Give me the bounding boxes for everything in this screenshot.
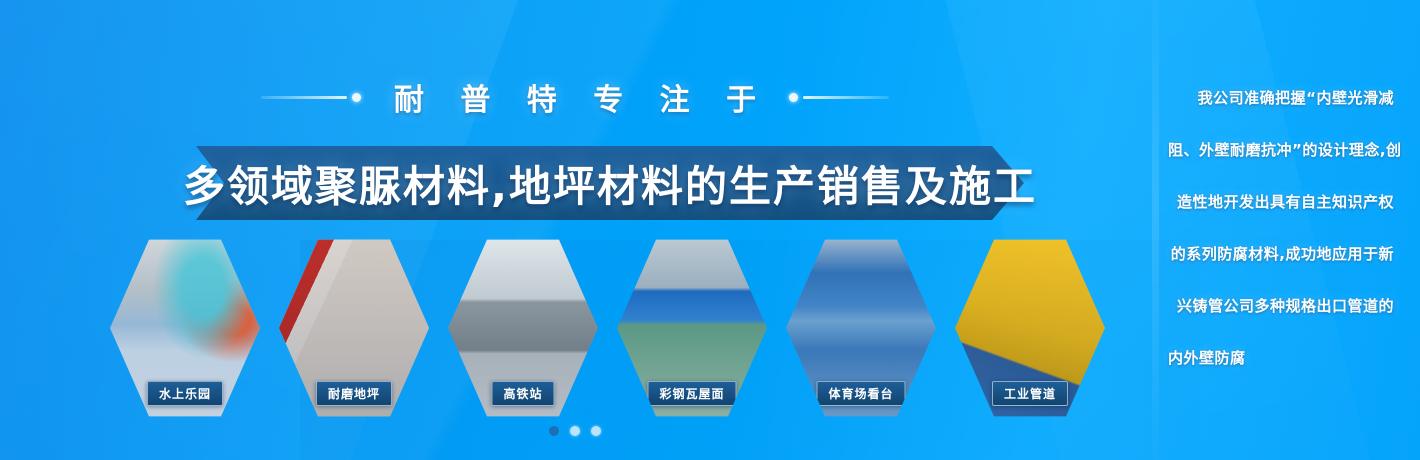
- decorative-rule-left-icon: [261, 93, 361, 102]
- gallery-label: 水上乐园: [147, 381, 223, 406]
- headline-banner: 多领域聚脲材料,地坪材料的生产销售及施工: [196, 146, 1024, 220]
- gallery-item-high-speed-rail-station[interactable]: 高铁站: [448, 236, 598, 420]
- carousel-dot-2[interactable]: [570, 426, 580, 436]
- carousel-dots: [0, 426, 1150, 436]
- headline-text: 多领域聚脲材料,地坪材料的生产销售及施工: [196, 146, 1024, 220]
- carousel-dot-3[interactable]: [591, 426, 601, 436]
- gallery-item-water-park[interactable]: 水上乐园: [110, 236, 260, 420]
- carousel-dot-1[interactable]: [549, 426, 559, 436]
- vertical-divider: [1152, 0, 1159, 460]
- gallery-label: 工业管道: [992, 381, 1068, 406]
- sidebar-line: 的系列防腐材料,成功地应用于新: [1168, 228, 1394, 280]
- gallery-label: 彩钢瓦屋面: [647, 381, 736, 406]
- banner-left-column: 耐 普 特 专 注 于 多领域聚脲材料,地坪材料的生产销售及施工 水上乐园 耐磨…: [0, 0, 1150, 460]
- gallery-label: 体育场看台: [816, 381, 905, 406]
- gallery-item-wear-resistant-floor[interactable]: 耐磨地坪: [279, 236, 429, 420]
- sidebar-line: 兴铸管公司多种规格出口管道的: [1168, 280, 1394, 332]
- gallery-hexagon-row: 水上乐园 耐磨地坪 高铁站 彩钢瓦屋面 体育场看台: [110, 236, 1120, 420]
- decorative-rule-right-icon: [789, 93, 889, 102]
- sidebar-line: 阻、外壁耐磨抗冲”的设计理念,创: [1168, 124, 1394, 176]
- promo-banner: 耐 普 特 专 注 于 多领域聚脲材料,地坪材料的生产销售及施工 水上乐园 耐磨…: [0, 0, 1420, 460]
- eyebrow-text: 耐 普 特 专 注 于: [381, 75, 769, 119]
- gallery-label: 高铁站: [491, 381, 554, 406]
- gallery-item-industrial-pipeline[interactable]: 工业管道: [955, 236, 1105, 420]
- sidebar-line: 我公司准确把握“内壁光滑减: [1168, 72, 1394, 124]
- gallery-item-color-steel-tile-roof[interactable]: 彩钢瓦屋面: [617, 236, 767, 420]
- sidebar-line: 内外壁防腐: [1168, 332, 1394, 384]
- gallery-label: 耐磨地坪: [316, 381, 392, 406]
- sidebar-line: 造性地开发出具有自主知识产权: [1168, 176, 1394, 228]
- gallery-item-stadium-grandstand[interactable]: 体育场看台: [786, 236, 936, 420]
- sidebar-description: 我公司准确把握“内壁光滑减 阻、外壁耐磨抗冲”的设计理念,创 造性地开发出具有自…: [1168, 72, 1394, 384]
- eyebrow-row: 耐 普 特 专 注 于: [0, 76, 1150, 118]
